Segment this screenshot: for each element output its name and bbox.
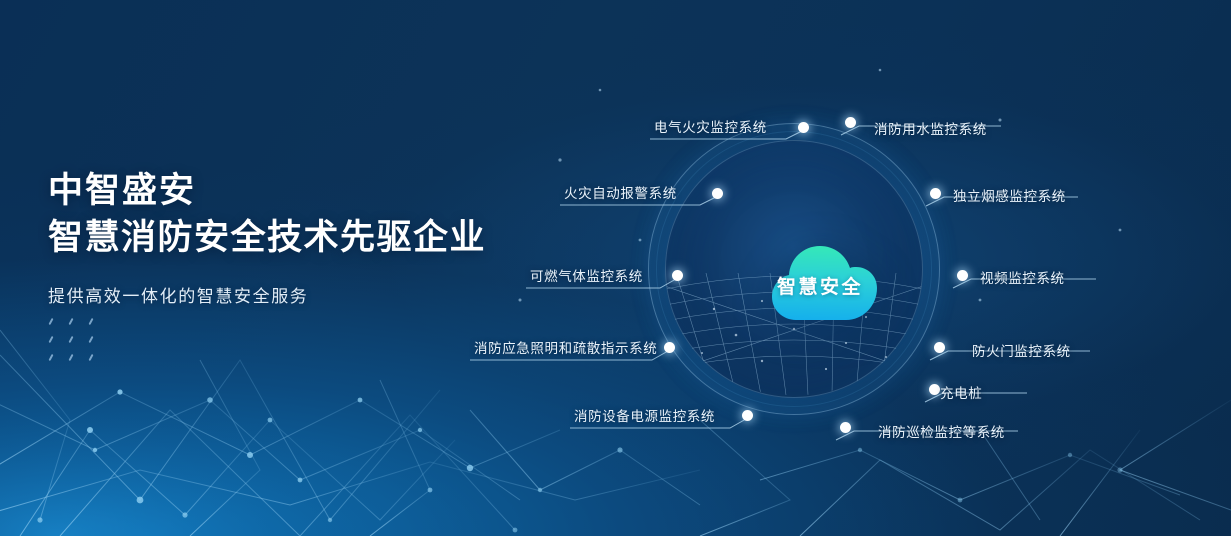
system-label-electrical-fire[interactable]: 电气火灾监控系统 — [654, 116, 767, 136]
page-title-line1: 中智盛安 — [48, 168, 568, 215]
node-marker — [798, 122, 809, 133]
node-marker — [929, 384, 940, 395]
page-title-line2: 智慧消防安全技术先驱企业 — [48, 215, 568, 262]
node-marker — [664, 342, 675, 353]
page-subtitle: 提供高效一体化的智慧安全服务 — [48, 282, 568, 307]
cloud-label: 智慧安全 — [756, 272, 884, 299]
node-marker — [840, 422, 851, 433]
node-marker — [742, 410, 753, 421]
system-label-charging-pile[interactable]: 充电桩 — [940, 382, 982, 402]
node-marker — [712, 188, 723, 199]
system-label-water[interactable]: 消防用水监控系统 — [874, 118, 987, 138]
system-label-video[interactable]: 视频监控系统 — [980, 267, 1065, 287]
node-marker — [845, 117, 856, 128]
system-label-gas[interactable]: 可燃气体监控系统 — [530, 265, 643, 285]
node-marker — [957, 270, 968, 281]
hero-banner: 中智盛安 智慧消防安全技术先驱企业 提供高效一体化的智慧安全服务 — [0, 0, 1231, 536]
system-label-smoke-detector[interactable]: 独立烟感监控系统 — [953, 185, 1066, 205]
decorative-dot-grid — [50, 318, 106, 364]
node-marker — [930, 188, 941, 199]
system-label-power-supply[interactable]: 消防设备电源监控系统 — [574, 405, 715, 425]
system-label-inspection[interactable]: 消防巡检监控等系统 — [878, 421, 1005, 441]
node-marker — [672, 270, 683, 281]
system-label-fire-door[interactable]: 防火门监控系统 — [972, 340, 1071, 360]
node-marker — [934, 342, 945, 353]
system-label-emergency-light[interactable]: 消防应急照明和疏散指示系统 — [474, 337, 657, 357]
system-label-fire-alarm[interactable]: 火灾自动报警系统 — [564, 182, 677, 202]
headline-block: 中智盛安 智慧消防安全技术先驱企业 提供高效一体化的智慧安全服务 — [48, 168, 568, 307]
